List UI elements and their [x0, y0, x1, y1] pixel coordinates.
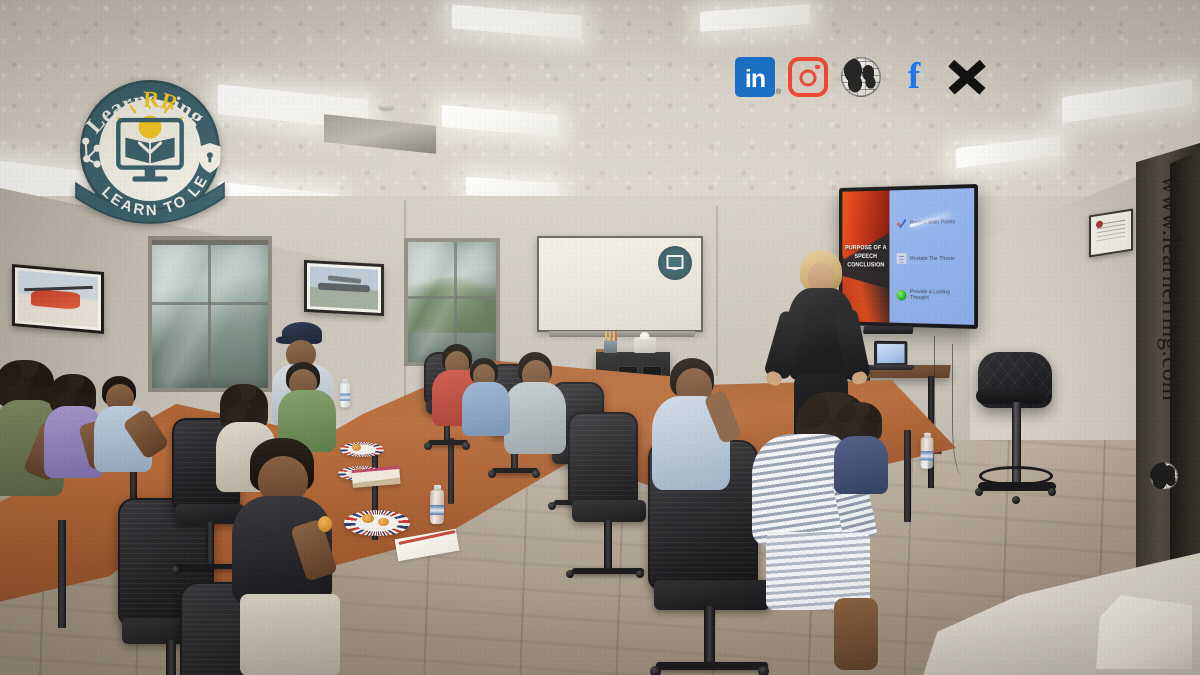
chair-gas-cylinder [166, 640, 176, 675]
caster-wheel [424, 442, 432, 450]
wall-corner-seam [716, 206, 718, 376]
interior-window-left [148, 236, 272, 392]
framed-helicopter-photo [12, 264, 104, 334]
water-bottle [340, 383, 350, 407]
caster-wheel [650, 666, 661, 675]
caster-wheel [758, 666, 769, 675]
table-leg [904, 430, 911, 522]
water-bottle [430, 490, 444, 524]
chair-gas-cylinder [604, 520, 612, 572]
student-torso [462, 382, 510, 436]
snack-food [378, 518, 389, 526]
paper-plate [340, 442, 384, 457]
website-globe-icon [1150, 462, 1178, 490]
framed-aircraft-photo [304, 260, 384, 316]
linkedin-icon[interactable]: in ® [735, 57, 775, 97]
slide-title: PURPOSE OF A SPEECH CONCLUSION [842, 243, 889, 270]
caster-wheel [172, 566, 180, 574]
table-leg [448, 438, 454, 504]
chair-backrest [568, 412, 638, 508]
snack-food [352, 444, 361, 451]
student-torso [834, 436, 888, 494]
slide-bullet-text: Restate The Thesis [910, 256, 955, 262]
tissue-box [634, 337, 656, 353]
slide-bullet-text: Provide a Lasting Thought [910, 289, 968, 302]
drop-cloth-fold [1096, 595, 1192, 669]
student-leg [834, 598, 878, 670]
learnerring-logo[interactable]: Learne RR ing LEARN TO LEAD [62, 62, 238, 238]
classroom-photo: PURPOSE OF A SPEECH CONCLUSION Review Ma… [0, 0, 1200, 675]
water-bottle [921, 437, 934, 468]
checkmark-icon [897, 218, 907, 229]
facebook-icon[interactable]: f [894, 57, 934, 97]
whiteboard-learnerring-seal [658, 246, 692, 280]
caster-wheel [488, 470, 496, 478]
certificate-seal [1096, 221, 1103, 229]
caster-wheel [1048, 488, 1056, 496]
caster-wheel [566, 570, 574, 578]
chair-seat [572, 500, 646, 522]
green-dot-icon [897, 290, 907, 301]
registered-mark: ® [776, 89, 781, 96]
linkedin-label: in [745, 67, 765, 97]
window-mullion [152, 302, 268, 305]
chair-gas-cylinder [206, 522, 214, 566]
social-media-bar: in ® f [735, 57, 987, 97]
pencils [605, 331, 617, 341]
student-torso [504, 382, 566, 454]
slide-bullet-item: Provide a Lasting Thought [897, 289, 969, 302]
instagram-icon[interactable] [788, 57, 828, 97]
student-shorts [240, 594, 340, 675]
instagram-lens [800, 69, 817, 86]
wall-mounted-television[interactable]: PURPOSE OF A SPEECH CONCLUSION Review Ma… [839, 184, 978, 329]
caster-wheel [462, 442, 470, 450]
learnerring-logo-svg: Learne RR ing LEARN TO LEAD [62, 62, 238, 238]
caster-wheel [975, 488, 983, 496]
presenter-laptop-screen[interactable] [874, 341, 907, 366]
caster-wheel [548, 502, 556, 510]
slide-bullet-panel: Review Main Points Restate The Thesis Pr… [889, 188, 974, 325]
tv-wall-mount [863, 326, 914, 334]
globe-landmass [1150, 462, 1178, 490]
caster-wheel [1012, 496, 1020, 504]
framed-certificate [1089, 209, 1133, 258]
paper-plate [344, 510, 410, 536]
caster-wheel [532, 470, 540, 478]
x-icon[interactable] [947, 57, 987, 97]
slide-bullet-item: Restate The Thesis [897, 253, 969, 264]
website-url[interactable]: www.learnerring.com [1156, 176, 1184, 401]
instagram-flash-dot [815, 65, 820, 70]
helicopter-photo-art [18, 271, 98, 328]
chair-gas-cylinder [704, 606, 715, 668]
pencil-cup [604, 340, 617, 353]
snack-food [362, 514, 374, 523]
facebook-label: f [908, 62, 920, 92]
globe-landmass [841, 57, 881, 97]
aircraft-photo-art [310, 266, 378, 310]
caster-wheel [636, 570, 644, 578]
whiteboard[interactable] [537, 236, 703, 332]
document-icon [897, 254, 907, 265]
window-track [152, 238, 268, 245]
presentation-slide: PURPOSE OF A SPEECH CONCLUSION Review Ma… [842, 188, 974, 325]
drafting-stool-base-cushion [976, 388, 1046, 404]
table-leg [58, 520, 66, 628]
window-mullion [408, 296, 496, 299]
snack-food [318, 516, 332, 532]
whiteboard-marker-tray [549, 331, 695, 337]
chair-base [572, 568, 644, 574]
smoke-detector-icon [378, 104, 394, 110]
power-cable [952, 344, 978, 476]
window-mullion [208, 240, 211, 388]
presenter-laptop-keyboard[interactable] [865, 365, 915, 370]
chair-base [656, 662, 768, 670]
drafting-stool-base [978, 482, 1056, 491]
globe-icon[interactable] [841, 57, 881, 97]
